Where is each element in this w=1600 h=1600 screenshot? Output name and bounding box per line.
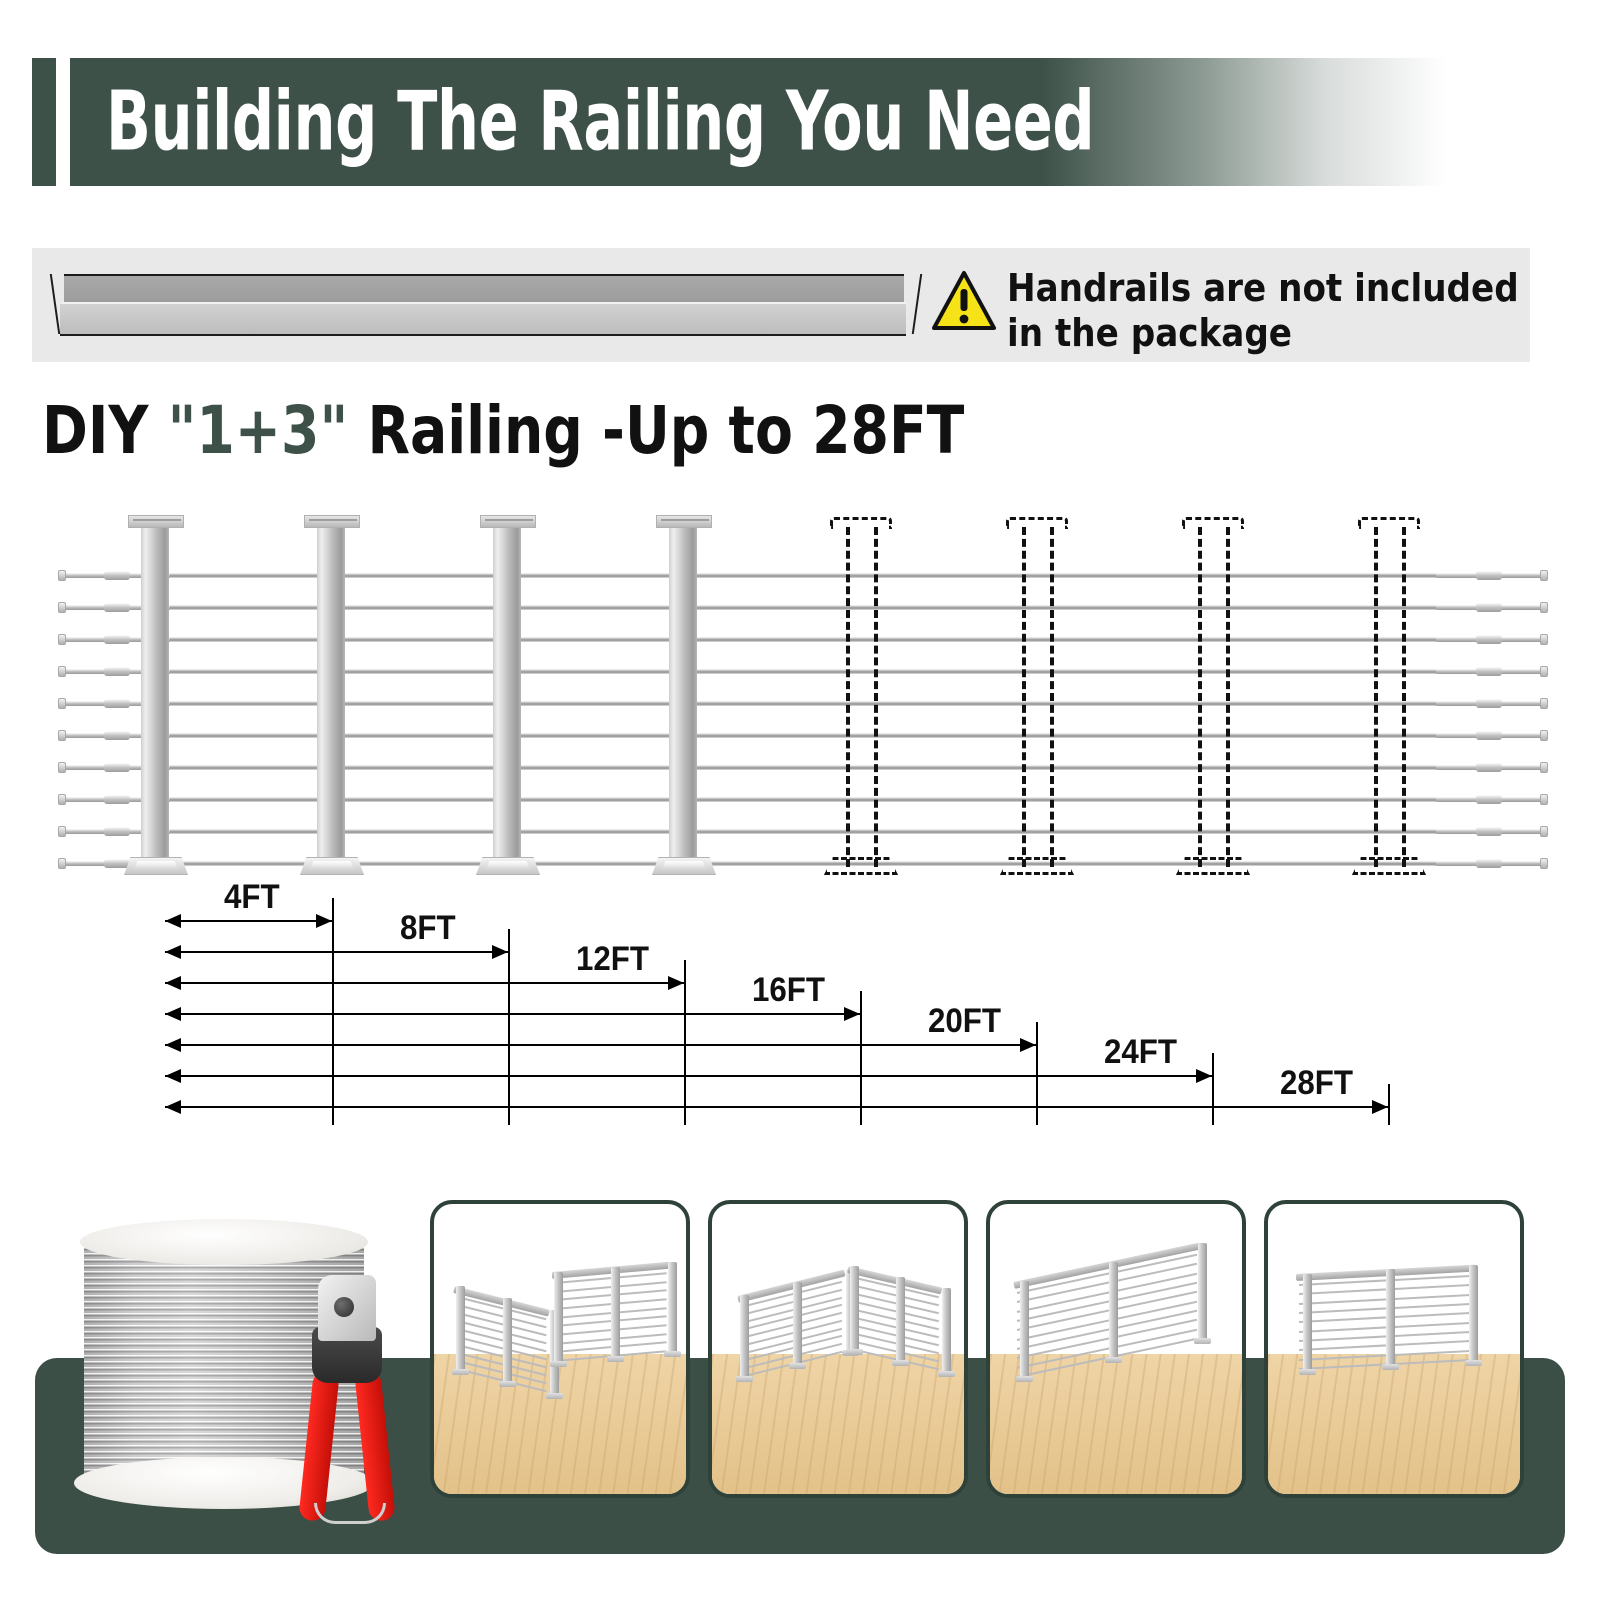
mini-post [668, 1262, 677, 1354]
mini-post [1109, 1262, 1118, 1360]
dimension-extension-line [508, 929, 510, 1125]
fitting-end-cap [58, 794, 66, 805]
cable-tensioner-fitting [1436, 795, 1548, 804]
handrail-bar-illustration [54, 274, 914, 336]
gallery-card[interactable] [1264, 1200, 1524, 1498]
fitting-end-cap [58, 762, 66, 773]
dimension-arrow-right [844, 1007, 860, 1021]
mini-post-foot [664, 1351, 681, 1357]
fitting-end-cap [1540, 666, 1548, 677]
fitting-barrel [1476, 699, 1502, 708]
fitting-barrel [1476, 795, 1502, 804]
fitting-end-cap [58, 698, 66, 709]
section-title-prefix: DIY [42, 392, 168, 469]
cable-line [58, 605, 1548, 610]
post-shaft-outline-left [1022, 527, 1026, 867]
post-base-outline [1176, 857, 1250, 875]
post-shaft-outline-left [1198, 527, 1202, 867]
post-shaft [493, 527, 521, 865]
dimension-arrow-left [165, 1007, 181, 1021]
railing-post [128, 505, 184, 885]
fitting-barrel [104, 827, 130, 836]
fitting-barrel [1476, 763, 1502, 772]
mini-post-foot [1194, 1338, 1211, 1344]
dimension-arrow-left [165, 1069, 181, 1083]
notice-text: Handrails are not included in the packag… [1007, 266, 1527, 356]
cable-cutter-tool [290, 1275, 410, 1537]
dimension-arrow-right [1372, 1100, 1388, 1114]
fitting-end-cap [1540, 762, 1548, 773]
mini-post-foot [789, 1363, 806, 1369]
post-base-inner [486, 861, 530, 869]
cable-line [58, 733, 1548, 738]
fitting-barrel [1476, 571, 1502, 580]
gallery-card[interactable] [708, 1200, 968, 1498]
railing-diagram: 4FT8FT12FT16FT20FT24FT28FT [0, 505, 1600, 1125]
post-top-plate [656, 515, 712, 528]
dimension-arrow-right [1020, 1038, 1036, 1052]
mini-post-foot [1299, 1369, 1316, 1375]
corner-railing-right [712, 1204, 964, 1494]
fitting-barrel [104, 763, 130, 772]
page-title: Building The Railing You Need [106, 75, 1094, 170]
dimension-rule [165, 982, 684, 984]
mini-post [793, 1282, 802, 1366]
cutter-left-handle [298, 1370, 340, 1522]
cable-tensioner-fitting [1436, 571, 1548, 580]
warning-triangle-icon [932, 270, 996, 332]
post-shaft-outline-right [1226, 527, 1230, 867]
post-shaft-outline-right [1050, 527, 1054, 867]
dimension-arrow-right [492, 945, 508, 959]
fitting-barrel [104, 571, 130, 580]
cable-line [58, 637, 1548, 642]
railing-post-optional [1184, 505, 1240, 885]
mini-post [1469, 1265, 1478, 1363]
fitting-barrel [1476, 603, 1502, 612]
fitting-end-cap [1540, 602, 1548, 613]
cable-tensioner-fitting [1436, 731, 1548, 740]
mini-post [740, 1295, 749, 1379]
notice-bar: Handrails are not included in the packag… [32, 248, 1530, 362]
railing-post-optional [832, 505, 888, 885]
dimension-label: 20FT [928, 1002, 1001, 1041]
cable-tensioner-fitting [1436, 667, 1548, 676]
header-accent-bar [32, 58, 56, 186]
dimension-rule [165, 920, 332, 922]
dimension-arrow-left [165, 945, 181, 959]
dimension-rule [165, 1106, 1388, 1108]
mini-post-foot [736, 1376, 753, 1382]
mini-post [554, 1272, 563, 1364]
dimension-rule [165, 1044, 1036, 1046]
cable-tensioner-fitting [1436, 699, 1548, 708]
dimension-extension-line [1036, 1022, 1038, 1125]
fitting-barrel [104, 859, 130, 868]
mini-handrail [737, 1269, 845, 1302]
mini-post-foot [499, 1381, 516, 1387]
section-title-suffix: Railing -Up to 28FT [348, 392, 964, 469]
fitting-barrel [104, 699, 130, 708]
cable-line [58, 701, 1548, 706]
mini-post [456, 1286, 465, 1372]
dimension-arrow-left [165, 1038, 181, 1052]
post-top-plate-outline [1358, 517, 1420, 529]
dimension-rule [165, 1075, 1212, 1077]
post-shaft-outline-left [1374, 527, 1378, 867]
fitting-end-cap [1540, 858, 1548, 869]
straight-railing-front [1268, 1204, 1520, 1494]
mini-post [1386, 1269, 1395, 1367]
post-shaft-outline-right [1402, 527, 1406, 867]
fitting-end-cap [1540, 794, 1548, 805]
page-header: Building The Railing You Need [0, 58, 1600, 186]
fitting-end-cap [1540, 698, 1548, 709]
mini-post-foot [1016, 1376, 1033, 1382]
cable-tensioner-fitting [1436, 603, 1548, 612]
handrail-top-face [64, 274, 904, 304]
section-title-accent: "1+3" [168, 392, 349, 469]
dimension-arrow-right [316, 914, 332, 928]
fitting-barrel [104, 731, 130, 740]
railing-post-optional [1008, 505, 1064, 885]
post-base-outline [1000, 857, 1074, 875]
fitting-end-cap [58, 858, 66, 869]
corner-railing-left [434, 1204, 686, 1494]
cable-line [58, 669, 1548, 674]
dimension-arrow-left [165, 1100, 181, 1114]
fitting-end-cap [58, 570, 66, 581]
railing-post [656, 505, 712, 885]
railing-post [304, 505, 360, 885]
fitting-barrel [1476, 731, 1502, 740]
mini-post [1303, 1274, 1312, 1372]
fitting-barrel [104, 795, 130, 804]
post-top-plate [304, 515, 360, 528]
dimension-rule [165, 951, 508, 953]
fitting-barrel [1476, 827, 1502, 836]
cable-tensioner-fitting [1436, 635, 1548, 644]
section-title: DIY "1+3" Railing -Up to 28FT [42, 392, 964, 469]
dimension-label: 12FT [576, 940, 649, 979]
post-base-outline [1352, 857, 1426, 875]
mini-post-foot [546, 1393, 563, 1399]
dimension-arrow-left [165, 976, 181, 990]
post-base-inner [310, 861, 354, 869]
handrail-front-face [60, 304, 906, 336]
dimension-line [165, 920, 332, 922]
post-shaft [141, 527, 169, 865]
dimension-arrow-right [1196, 1069, 1212, 1083]
fitting-barrel [104, 667, 130, 676]
fitting-end-cap [1540, 826, 1548, 837]
dimension-arrow-right [668, 976, 684, 990]
railing-post-optional [1360, 505, 1416, 885]
post-base-outline [824, 857, 898, 875]
railing-post [480, 505, 536, 885]
cable-tensioner-fitting [1436, 763, 1548, 772]
cable-line [58, 829, 1548, 834]
fitting-end-cap [58, 730, 66, 741]
fitting-barrel [1476, 667, 1502, 676]
mini-post [942, 1288, 951, 1374]
mini-post [1198, 1243, 1207, 1341]
fitting-end-cap [58, 602, 66, 613]
mini-post-foot [1105, 1357, 1122, 1363]
fitting-end-cap [58, 634, 66, 645]
post-top-plate [480, 515, 536, 528]
dimension-extension-line [332, 898, 334, 1125]
dimension-label: 4FT [224, 878, 280, 917]
dimension-label: 16FT [752, 971, 825, 1010]
cable-line [58, 573, 1548, 578]
fitting-barrel [1476, 635, 1502, 644]
cutter-spring [314, 1503, 386, 1524]
dimension-line [165, 1075, 1212, 1077]
mini-post-foot [607, 1356, 624, 1362]
post-top-plate-outline [1006, 517, 1068, 529]
fitting-end-cap [1540, 634, 1548, 645]
cable-line [58, 861, 1548, 866]
cable-spool-illustration [60, 1205, 400, 1545]
post-top-plate-outline [1182, 517, 1244, 529]
cable-line [58, 765, 1548, 770]
fitting-end-cap [58, 666, 66, 677]
mini-post [896, 1277, 905, 1363]
spool-top-flange [80, 1219, 368, 1265]
cutter-pivot-bolt [334, 1297, 354, 1317]
cable-tensioner-fitting [1436, 827, 1548, 836]
post-base-inner [134, 861, 178, 869]
dimension-extension-line [1388, 1084, 1390, 1125]
dimension-line [165, 982, 684, 984]
cable-line [58, 797, 1548, 802]
straight-railing-angled [990, 1204, 1242, 1494]
dimension-label: 8FT [400, 909, 456, 948]
post-top-plate [128, 515, 184, 528]
post-shaft [669, 527, 697, 865]
post-shaft-outline-left [846, 527, 850, 867]
dimension-extension-line [860, 991, 862, 1125]
mini-post-foot [452, 1369, 469, 1375]
fitting-barrel [104, 603, 130, 612]
mini-post [850, 1266, 859, 1352]
mini-post-foot [892, 1360, 909, 1366]
mini-post-foot [1382, 1364, 1399, 1370]
dimension-label: 24FT [1104, 1033, 1177, 1072]
dimension-line [165, 951, 508, 953]
post-shaft-outline-right [874, 527, 878, 867]
cable-tensioner-fitting [1436, 859, 1548, 868]
mini-post [1020, 1281, 1029, 1379]
gallery-card[interactable] [430, 1200, 690, 1498]
dimension-line [165, 1013, 860, 1015]
fitting-barrel [104, 635, 130, 644]
post-shaft [317, 527, 345, 865]
dimension-label: 28FT [1280, 1064, 1353, 1103]
post-base-inner [662, 861, 706, 869]
dimension-line [165, 1106, 1388, 1108]
dimension-extension-line [684, 960, 686, 1125]
mini-handrail [453, 1286, 550, 1317]
fitting-end-cap [1540, 570, 1548, 581]
dimension-arrow-left [165, 914, 181, 928]
fitting-barrel [1476, 859, 1502, 868]
dimension-extension-line [1212, 1053, 1214, 1125]
fitting-end-cap [1540, 730, 1548, 741]
dimension-rule [165, 1013, 860, 1015]
cutter-right-handle [354, 1370, 396, 1522]
post-top-plate-outline [830, 517, 892, 529]
mini-post-foot [1465, 1360, 1482, 1366]
mini-post-foot [550, 1361, 567, 1367]
gallery-card[interactable] [986, 1200, 1246, 1498]
mini-post [503, 1298, 512, 1384]
fitting-end-cap [58, 826, 66, 837]
dimension-line [165, 1044, 1036, 1046]
mini-post-foot [846, 1349, 863, 1355]
mini-post-foot [938, 1371, 955, 1377]
mini-post [611, 1267, 620, 1359]
